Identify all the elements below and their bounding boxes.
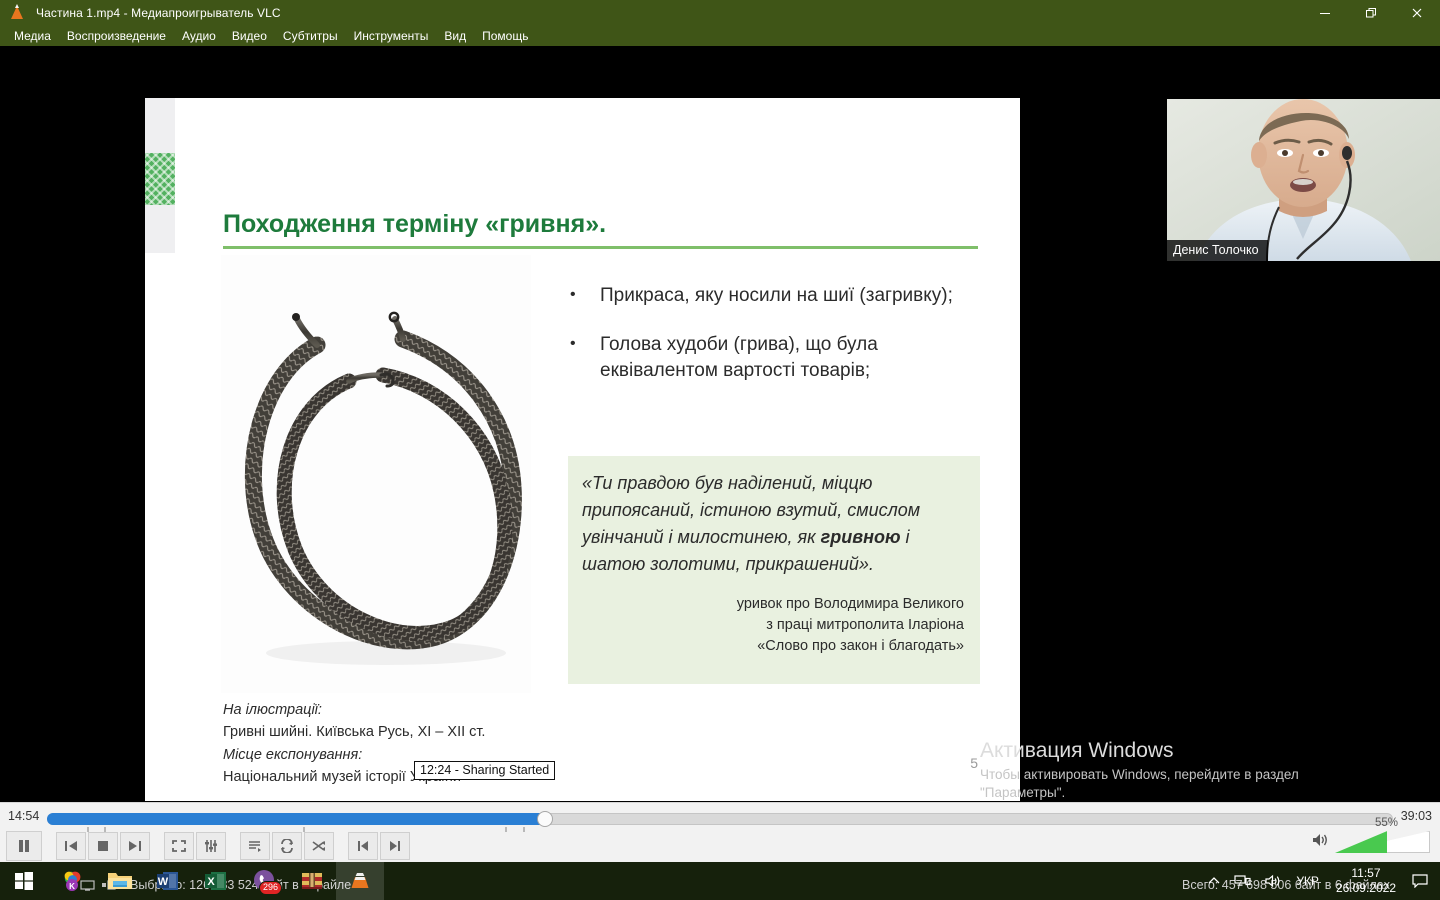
quote-attribution: уривок про Володимира Великого з праці м… [582,594,964,657]
caption-line-illustration: Гривні шийні. Київська Русь, XI – XII ст… [223,721,653,743]
minimize-button[interactable] [1302,0,1348,25]
close-button[interactable] [1394,0,1440,25]
bullet-marker-icon: • [570,283,600,308]
taskbar-item-winrar[interactable] [288,862,336,900]
pause-button[interactable] [6,831,42,861]
stop-button[interactable] [88,832,118,860]
tray-speaker-icon[interactable] [1258,862,1289,900]
slide-title: Походження терміну «гривня». [223,210,606,239]
playlist-button[interactable] [240,832,270,860]
svg-text:X: X [207,876,215,888]
quote-bold-word: гривною [821,527,901,547]
vlc-cone-icon [6,3,28,23]
volume-area: 55% [1311,831,1430,853]
svg-text:K: K [69,882,75,891]
total-time[interactable]: 39:03 [1401,809,1432,823]
clock[interactable]: 11:57 26.09.2022 [1326,862,1406,900]
menu-view[interactable]: Вид [436,27,474,45]
taskbar-item-viber[interactable]: 296 [240,862,288,900]
frame-prev-button[interactable] [348,832,378,860]
language-indicator[interactable]: УКР [1289,862,1326,900]
watermark-title: Активация Windows [980,739,1380,763]
clock-date: 26.09.2022 [1336,881,1396,896]
seek-handle[interactable] [537,811,553,827]
network-icon[interactable] [1227,862,1258,900]
taskbar-item-word[interactable]: W [144,862,192,900]
attribution-line: «Слово про закон і благодать» [582,636,964,657]
svg-text:W: W [158,876,169,888]
presentation-slide: Походження терміну «гривня». [145,98,1020,801]
effects-button[interactable] [196,832,226,860]
previous-button[interactable] [56,832,86,860]
quote-text: «Ти правдою був наділений, міццю припояс… [582,470,964,578]
bullet-text: Голова худоби (грива), що була еквівален… [600,332,990,383]
speaker-icon[interactable] [1311,832,1329,853]
slide-page-number: 5 [970,755,978,771]
viber-badge: 296 [259,881,282,895]
windows-activation-watermark: Активация Windows Чтобы активировать Win… [980,739,1380,802]
menu-playback[interactable]: Воспроизведение [59,27,174,45]
slide-decor-green-block [145,153,175,205]
attribution-line: уривок про Володимира Великого [582,594,964,615]
webcam-overlay[interactable]: Денис Толочко [1167,99,1440,261]
watermark-subtitle: Чтобы активировать Windows, перейдите в … [980,766,1380,802]
video-surface[interactable]: Походження терміну «гривня». [0,46,1440,802]
clock-time: 11:57 [1351,866,1380,881]
taskbar-item-kaspersky[interactable]: K [48,862,96,900]
menu-tools[interactable]: Инструменты [346,27,437,45]
quote-box: «Ти правдою був наділений, міццю припояс… [568,456,980,684]
next-button[interactable] [120,832,150,860]
notification-icon[interactable] [1406,862,1440,900]
volume-slider[interactable]: 55% [1335,831,1430,853]
slide-title-rule [223,246,978,249]
taskbar: Выбрано: 126 383 524 байт в 1 файле Всег… [0,862,1440,900]
seek-fill [47,813,545,825]
webcam-participant-name: Денис Толочко [1167,240,1268,261]
taskbar-item-explorer[interactable] [96,862,144,900]
attribution-line: з праці митрополита Іларіона [582,615,964,636]
subtitle-overlay: 12:24 - Sharing Started [414,761,555,780]
vlc-window: Частина 1.mp4 - Медиапроигрыватель VLC М… [0,0,1440,900]
fullscreen-button[interactable] [164,832,194,860]
caption-label-illustration: На ілюстрації: [223,699,653,721]
chevron-up-icon[interactable] [1201,862,1227,900]
bullet-marker-icon: • [570,332,600,383]
taskbar-item-excel[interactable]: X [192,862,240,900]
taskbar-item-vlc[interactable] [336,862,384,900]
volume-fill [1335,831,1387,853]
system-tray: УКР 11:57 26.09.2022 [1201,862,1440,900]
window-title: Частина 1.mp4 - Медиапроигрыватель VLC [36,6,281,20]
menu-bar: Медиа Воспроизведение Аудио Видео Субтит… [0,25,1440,46]
seek-bar[interactable] [47,813,1393,825]
frame-next-button[interactable] [380,832,410,860]
transport-buttons [6,831,412,861]
menu-subtitles[interactable]: Субтитры [275,27,346,45]
torc-photo [221,255,531,693]
shuffle-button[interactable] [304,832,334,860]
menu-video[interactable]: Видео [224,27,275,45]
title-bar: Частина 1.mp4 - Медиапроигрыватель VLC [0,0,1440,25]
menu-audio[interactable]: Аудио [174,27,224,45]
menu-media[interactable]: Медиа [6,27,59,45]
loop-button[interactable] [272,832,302,860]
menu-help[interactable]: Помощь [474,27,536,45]
volume-percent: 55% [1375,817,1398,829]
start-button[interactable] [0,862,48,900]
window-controls [1302,0,1440,25]
elapsed-time[interactable]: 14:54 [8,809,39,823]
bullet-item: • Голова худоби (грива), що була еквівал… [570,332,990,383]
taskbar-items: K W [0,862,384,900]
bullet-text: Прикраса, яку носили на шиї (загривку); [600,283,990,308]
maximize-button[interactable] [1348,0,1394,25]
slide-bullet-list: • Прикраса, яку носили на шиї (загривку)… [570,283,990,407]
bullet-item: • Прикраса, яку носили на шиї (загривку)… [570,283,990,308]
player-controls: 14:54 39:03 [0,802,1440,862]
